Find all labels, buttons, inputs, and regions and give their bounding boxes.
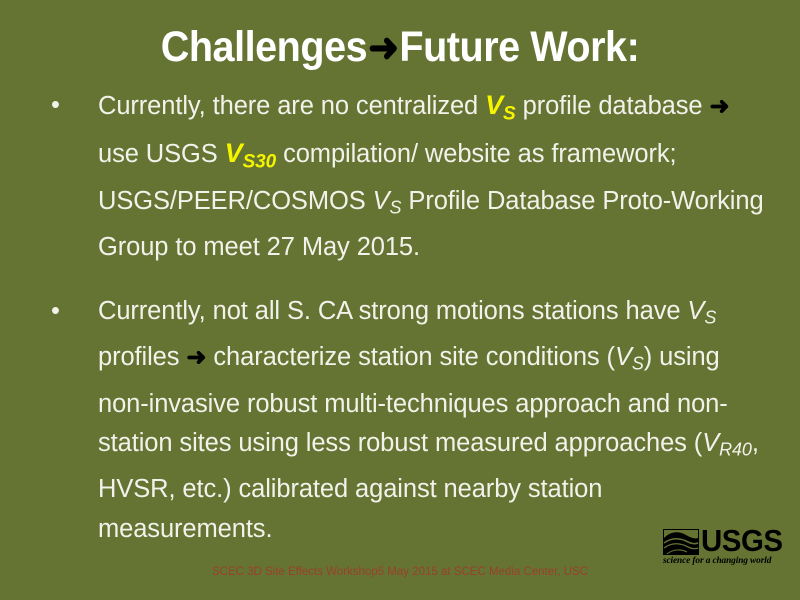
bullet-segment-text: characterize station site conditions (: [206, 343, 615, 371]
vs30-variable-yellow: VS30: [225, 138, 276, 168]
vs-base: V: [687, 297, 704, 325]
vs-subscript: R40: [719, 440, 752, 460]
bullet-segment-text: use USGS: [98, 140, 225, 168]
vs-base: V: [485, 90, 503, 120]
bullet-segment-text: profile database: [516, 92, 710, 120]
bullet-segment-text: Currently, not all S. CA strong motions …: [98, 297, 687, 325]
arrow-right-icon: ➜: [186, 344, 206, 371]
vs-base: V: [615, 343, 632, 371]
usgs-tagline: science for a changing world: [663, 556, 771, 567]
bullet-segment-text: profiles: [98, 343, 186, 371]
usgs-wordmark: USGS: [701, 524, 783, 558]
title-after-arrow: Future Work:: [399, 23, 639, 71]
slide-canvas: Challenges➜Future Work: • Currently, the…: [0, 0, 800, 600]
bullet-item: • Currently, not all S. CA strong motion…: [40, 292, 768, 549]
bullet-text: Currently, not all S. CA strong motions …: [98, 292, 768, 549]
vs-base: V: [702, 429, 719, 457]
vs-base: V: [225, 138, 243, 168]
vs-subscript: S30: [243, 151, 277, 172]
vs-subscript: S: [632, 354, 644, 374]
bullet-marker: •: [51, 86, 60, 126]
arrow-right-icon: ➜: [709, 93, 729, 120]
vs-subscript: S: [704, 308, 716, 328]
title-before-arrow: Challenges: [161, 23, 367, 71]
vr40-variable-white: VR40: [702, 429, 752, 457]
usgs-wave-mark-icon: [663, 529, 699, 555]
vs-base: V: [373, 187, 390, 215]
vs-subscript: S: [503, 103, 516, 124]
vs-variable-white: VS: [373, 187, 402, 215]
bullet-marker: •: [51, 292, 60, 332]
bullet-item: • Currently, there are no centralized VS…: [40, 86, 768, 267]
vs-variable-white: VS: [687, 297, 716, 325]
slide-body: • Currently, there are no centralized VS…: [40, 86, 768, 549]
bullet-text: Currently, there are no centralized VS p…: [98, 86, 768, 267]
usgs-logo: USGS science for a changing world: [663, 527, 789, 569]
bullet-segment-text: Currently, there are no centralized: [98, 92, 485, 120]
vs-variable-white: VS: [615, 343, 644, 371]
vs-variable-yellow: VS: [485, 90, 516, 120]
arrow-right-icon: ➜: [367, 26, 399, 70]
slide-title: Challenges➜Future Work:: [32, 22, 768, 73]
vs-subscript: S: [390, 197, 402, 217]
